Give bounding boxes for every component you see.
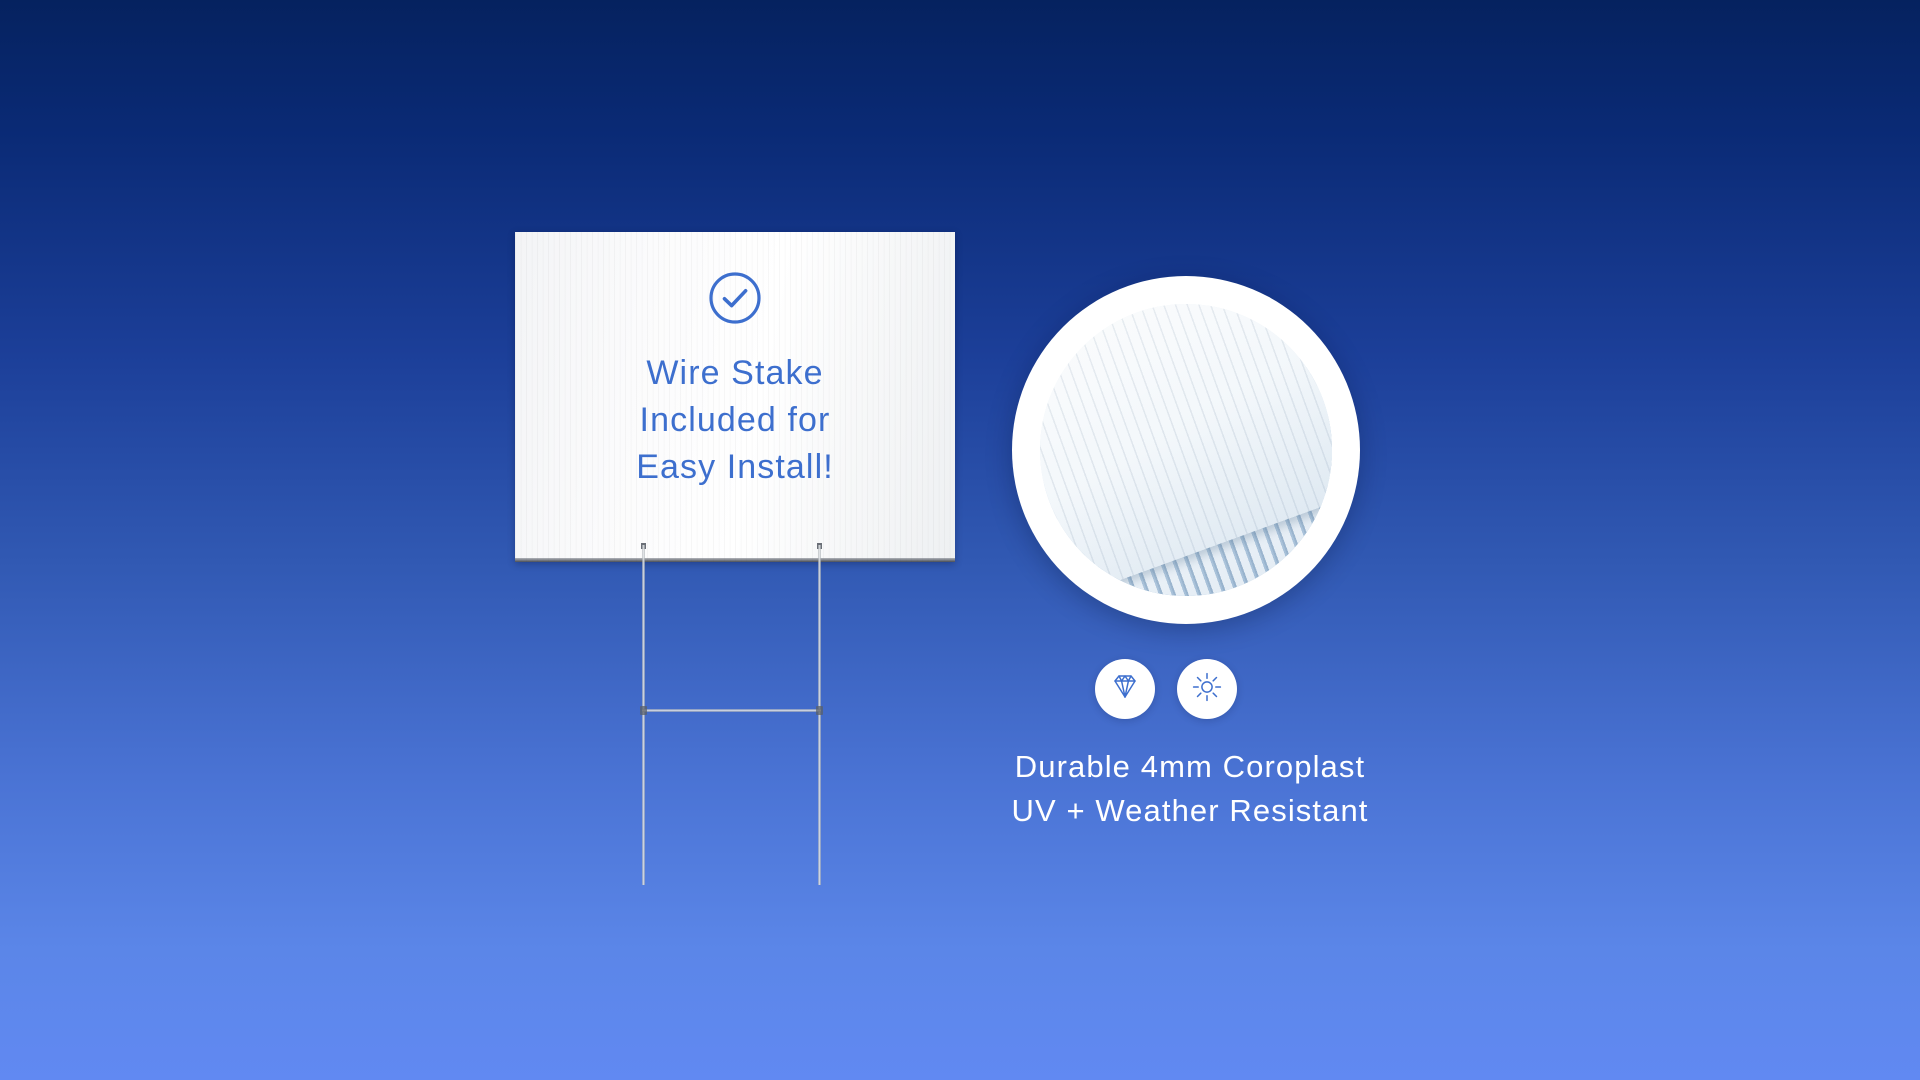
wire-h-stake — [628, 545, 848, 895]
feature-badge-row — [1095, 659, 1237, 719]
inset-lighting-overlay — [1040, 304, 1332, 596]
circle-check-icon — [707, 270, 763, 331]
stake-joint-left — [640, 706, 647, 715]
stake-leg-right — [818, 545, 821, 885]
coroplast-closeup-photo — [1012, 276, 1360, 624]
feature-caption: Durable 4mm Coroplast UV + Weather Resis… — [640, 745, 1740, 833]
sign-text-line-1: Wire Stake — [636, 350, 834, 397]
stake-leg-left — [642, 545, 645, 885]
yard-sign: Wire Stake Included for Easy Install! — [515, 232, 955, 562]
inset-photo-clip — [1040, 304, 1332, 596]
promo-image-canvas: Wire Stake Included for Easy Install! — [0, 0, 1920, 1080]
caption-line-2: UV + Weather Resistant — [640, 789, 1740, 833]
sign-content: Wire Stake Included for Easy Install! — [515, 232, 955, 562]
caption-line-1: Durable 4mm Coroplast — [640, 745, 1740, 789]
diamond-icon — [1108, 670, 1142, 709]
sign-text-line-2: Included for — [636, 397, 834, 444]
stake-crossbar — [642, 709, 821, 712]
sign-text-block: Wire Stake Included for Easy Install! — [636, 350, 834, 491]
durability-badge — [1095, 659, 1155, 719]
sign-text-line-3: Easy Install! — [636, 444, 834, 491]
sun-icon — [1190, 670, 1224, 709]
uv-resistance-badge — [1177, 659, 1237, 719]
stake-joint-right — [816, 706, 823, 715]
